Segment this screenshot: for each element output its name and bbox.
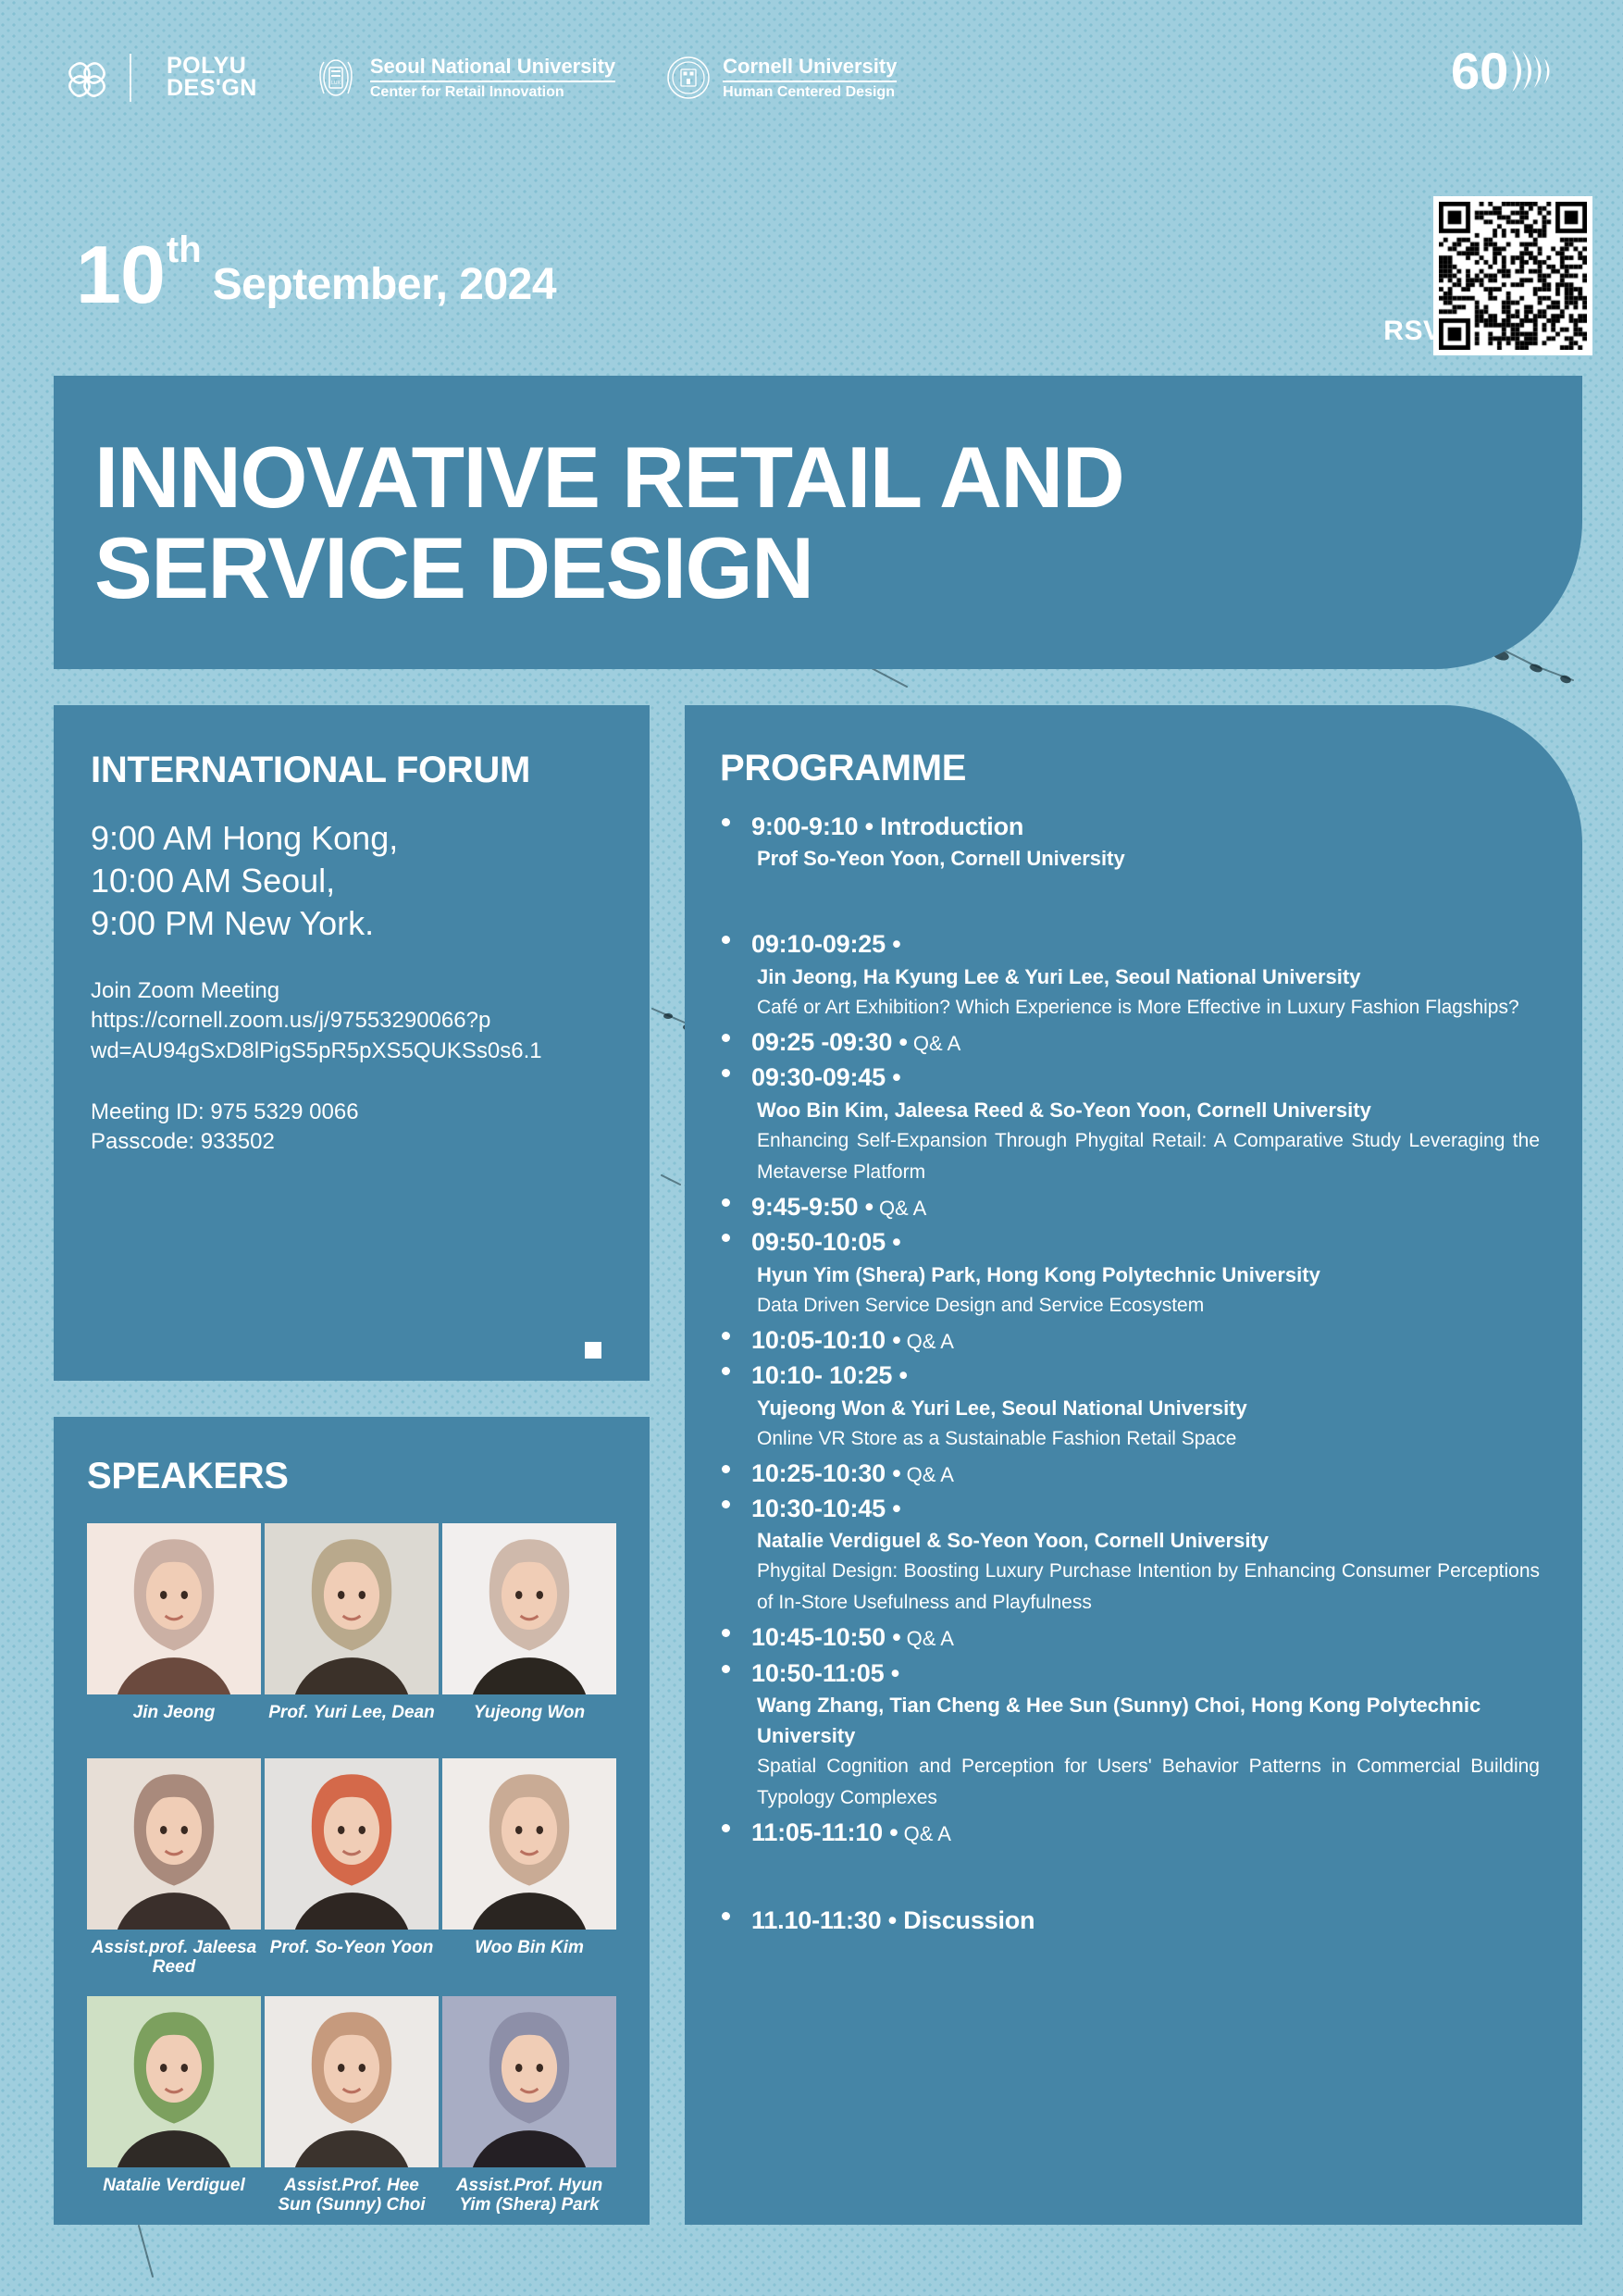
programme-item-time: 10:50-11:05 • (751, 1657, 1551, 1690)
bullet-icon (722, 1912, 730, 1920)
bullet-icon (722, 1465, 730, 1473)
bullet-icon (722, 818, 730, 826)
speaker-card: Assist.prof. Jaleesa Reed (87, 1758, 261, 1992)
bullet-icon (722, 1034, 730, 1042)
programme-time-text: 9:45-9:50 • (751, 1193, 873, 1221)
programme-item-time: 09:10-09:25 • (751, 927, 1551, 961)
programme-time-text: 10:10- 10:25 • (751, 1361, 908, 1389)
cornell-subtitle: Human Centered Design (723, 85, 897, 101)
event-date-ordinal: th (167, 231, 202, 268)
speaker-name: Prof. So-Yeon Yoon (268, 1938, 435, 1975)
forum-heading: INTERNATIONAL FORUM (91, 750, 613, 791)
speaker-card: Prof. Yuri Lee, Dean (265, 1523, 439, 1755)
anniversary-number: 60 (1451, 43, 1508, 100)
cornell-title: Cornell University (723, 56, 897, 77)
speakers-grid: Jin JeongProf. Yuri Lee, DeanYujeong Won… (87, 1523, 616, 2229)
bullet-icon (722, 936, 730, 944)
speakers-heading: SPEAKERS (87, 1456, 616, 1497)
speaker-card: Assist.Prof. Hyun Yim (Shera) Park (442, 1996, 616, 2230)
programme-qa-label: Q& A (900, 1330, 953, 1353)
programme-item-time: 10:10- 10:25 • (751, 1359, 1551, 1392)
programme-item: 09:50-10:05 •Hyun Yim (Shera) Park, Hong… (712, 1225, 1551, 1321)
forum-time-seoul: 10:00 AM Seoul, (91, 860, 613, 902)
programme-spacer (712, 875, 1551, 927)
seoul-national-university-logo: LUX Seoul National University Center for… (311, 53, 615, 103)
programme-item-speakers: Yujeong Won & Yuri Lee, Seoul National U… (751, 1393, 1551, 1423)
portrait-so-yeon-yoon (265, 1758, 439, 1930)
programme-item-talk-title: Online VR Store as a Sustainable Fashion… (751, 1423, 1551, 1455)
forum-passcode: Passcode: 933502 (91, 1127, 613, 1157)
programme-time-text: 9:00-9:10 • Introduction (751, 813, 1023, 840)
speaker-name: Assist.prof. Jaleesa Reed (91, 1938, 257, 1978)
bullet-icon (722, 1665, 730, 1673)
programme-item-time: 11.10-11:30 • Discussion (751, 1904, 1551, 1937)
programme-item: 9:00-9:10 • IntroductionProf So-Yeon Yoo… (712, 810, 1551, 874)
cornell-university-logo: Cornell University Human Centered Design (663, 53, 897, 103)
portrait-hyun-yim-park (442, 1996, 616, 2167)
portrait-natalie-verdiguel (87, 1996, 261, 2167)
programme-item-speakers: Woo Bin Kim, Jaleesa Reed & So-Yeon Yoon… (751, 1095, 1551, 1125)
bullet-icon (722, 1234, 730, 1242)
portrait-hee-sun-choi (265, 1996, 439, 2167)
forum-timezones: 9:00 AM Hong Kong, 10:00 AM Seoul, 9:00 … (91, 817, 613, 945)
international-forum-panel: INTERNATIONAL FORUM 9:00 AM Hong Kong, 1… (54, 705, 650, 1381)
programme-time-text: 10:30-10:45 • (751, 1495, 900, 1522)
speaker-card: Natalie Verdiguel (87, 1996, 261, 2230)
speaker-card: Jin Jeong (87, 1523, 261, 1755)
programme-time-text: 10:25-10:30 • (751, 1459, 900, 1487)
rsvp-qr-code[interactable] (1433, 196, 1592, 355)
forum-zoom-block: Join Zoom Meeting https://cornell.zoom.u… (91, 976, 613, 1065)
programme-list: 9:00-9:10 • IntroductionProf So-Yeon Yoo… (712, 810, 1551, 1937)
snu-wordmark: Seoul National University Center for Ret… (370, 56, 615, 101)
cornell-rule (723, 81, 897, 82)
cornell-wordmark: Cornell University Human Centered Design (723, 56, 897, 101)
programme-qa-label: Q& A (898, 1822, 950, 1845)
programme-item-talk-title: Data Driven Service Design and Service E… (751, 1290, 1551, 1322)
programme-item: 10:05-10:10 • Q& A (712, 1323, 1551, 1357)
forum-meeting-id: Meeting ID: 975 5329 0066 (91, 1098, 613, 1127)
event-date-day: 10 (76, 242, 165, 307)
bullet-icon (722, 1332, 730, 1340)
programme-item-time: 10:05-10:10 • Q& A (751, 1323, 1551, 1357)
programme-item: 11:05-11:10 • Q& A (712, 1816, 1551, 1849)
programme-qa-label: Q& A (908, 1032, 960, 1055)
programme-qa-label: Q& A (900, 1463, 953, 1486)
speaker-name: Assist.Prof. Hee Sun (Sunny) Choi (268, 2176, 435, 2215)
programme-item-time: 11:05-11:10 • Q& A (751, 1816, 1551, 1849)
programme-item: 10:25-10:30 • Q& A (712, 1457, 1551, 1490)
programme-item: 10:30-10:45 •Natalie Verdiguel & So-Yeon… (712, 1492, 1551, 1619)
forum-time-newyork: 9:00 PM New York. (91, 902, 613, 945)
programme-panel: PROGRAMME 9:00-9:10 • IntroductionProf S… (685, 705, 1582, 2225)
programme-item-time: 10:45-10:50 • Q& A (751, 1620, 1551, 1654)
forum-zoom-label: Join Zoom Meeting (91, 976, 613, 1006)
programme-item: 10:10- 10:25 •Yujeong Won & Yuri Lee, Se… (712, 1359, 1551, 1454)
programme-item: 09:10-09:25 •Jin Jeong, Ha Kyung Lee & Y… (712, 927, 1551, 1023)
forum-zoom-url-line1[interactable]: https://cornell.zoom.us/j/97553290066?p (91, 1006, 613, 1036)
programme-time-text: 10:50-11:05 • (751, 1659, 899, 1687)
programme-time-text: 11:05-11:10 • (751, 1818, 898, 1846)
poster-title-line2: SERVICE DESIGN (94, 523, 1582, 614)
programme-item: 09:25 -09:30 • Q& A (712, 1025, 1551, 1059)
programme-time-text: 09:25 -09:30 • (751, 1028, 908, 1056)
snu-crest-icon: LUX (311, 53, 361, 103)
polyu-line2: DES'GN (167, 78, 257, 100)
programme-item: 11.10-11:30 • Discussion (712, 1904, 1551, 1937)
programme-item: 10:50-11:05 •Wang Zhang, Tian Cheng & He… (712, 1657, 1551, 1814)
programme-time-text: 09:30-09:45 • (751, 1063, 900, 1091)
speaker-name: Natalie Verdiguel (91, 2176, 257, 2213)
programme-heading: PROGRAMME (720, 748, 1551, 789)
polyu-design-logo: POLYU DES'GN (67, 54, 257, 102)
programme-item-time: 10:25-10:30 • Q& A (751, 1457, 1551, 1490)
programme-item-time: 9:45-9:50 • Q& A (751, 1190, 1551, 1223)
programme-item-time: 09:25 -09:30 • Q& A (751, 1025, 1551, 1059)
bullet-icon (722, 1069, 730, 1077)
60th-anniversary-logo: 60 (1451, 43, 1555, 100)
poster-title-line1: INNOVATIVE RETAIL AND (94, 432, 1582, 523)
forum-time-hongkong: 9:00 AM Hong Kong, (91, 817, 613, 860)
cornell-seal-icon (663, 53, 713, 103)
programme-item-speakers: Prof So-Yeon Yoon, Cornell University (751, 843, 1551, 874)
programme-item-time: 9:00-9:10 • Introduction (751, 810, 1551, 843)
programme-spacer (712, 1852, 1551, 1904)
speaker-name: Yujeong Won (446, 1703, 613, 1740)
programme-item-talk-title: Spatial Cognition and Perception for Use… (751, 1751, 1551, 1814)
logo-divider (130, 54, 131, 102)
programme-item-talk-title: Phygital Design: Boosting Luxury Purchas… (751, 1556, 1551, 1619)
event-date-month-year: September, 2024 (213, 263, 556, 307)
speaker-card: Yujeong Won (442, 1523, 616, 1755)
programme-time-text: 09:50-10:05 • (751, 1228, 900, 1256)
snu-subtitle: Center for Retail Innovation (370, 85, 615, 101)
programme-time-text: 10:05-10:10 • (751, 1326, 900, 1354)
speaker-card: Woo Bin Kim (442, 1758, 616, 1992)
portrait-jaleesa-reed (87, 1758, 261, 1930)
speaker-name: Assist.Prof. Hyun Yim (Shera) Park (446, 2176, 613, 2215)
programme-item: 9:45-9:50 • Q& A (712, 1190, 1551, 1223)
speaker-card: Prof. So-Yeon Yoon (265, 1758, 439, 1992)
bullet-icon (722, 1500, 730, 1508)
programme-item-speakers: Wang Zhang, Tian Cheng & Hee Sun (Sunny)… (751, 1690, 1551, 1751)
speaker-card: Assist.Prof. Hee Sun (Sunny) Choi (265, 1996, 439, 2230)
programme-item: 09:30-09:45 •Woo Bin Kim, Jaleesa Reed &… (712, 1061, 1551, 1187)
forum-white-square-marker (585, 1342, 601, 1359)
polyu-wordmark: POLYU DES'GN (167, 56, 257, 100)
portrait-yujeong-won (442, 1523, 616, 1694)
programme-item-time: 09:30-09:45 • (751, 1061, 1551, 1094)
portrait-yuri-lee (265, 1523, 439, 1694)
portrait-woo-bin-kim (442, 1758, 616, 1930)
snu-rule (370, 81, 615, 82)
programme-item-time: 10:30-10:45 • (751, 1492, 1551, 1525)
bullet-icon (722, 1367, 730, 1375)
programme-item-time: 09:50-10:05 • (751, 1225, 1551, 1259)
programme-qa-label: Q& A (900, 1627, 953, 1650)
programme-qa-label: Q& A (873, 1197, 926, 1220)
programme-time-text: 09:10-09:25 • (751, 930, 900, 958)
programme-item-talk-title: Enhancing Self-Expansion Through Phygita… (751, 1125, 1551, 1188)
programme-item-speakers: Jin Jeong, Ha Kyung Lee & Yuri Lee, Seou… (751, 962, 1551, 992)
poster-title-banner: INNOVATIVE RETAIL AND SERVICE DESIGN (54, 376, 1582, 669)
forum-zoom-url-line2[interactable]: wd=AU94gSxD8lPigS5pR5pXS5QUKSs0s6.1 (91, 1036, 613, 1066)
programme-item: 10:45-10:50 • Q& A (712, 1620, 1551, 1654)
programme-item-speakers: Natalie Verdiguel & So-Yeon Yoon, Cornel… (751, 1525, 1551, 1556)
programme-item-speakers: Hyun Yim (Shera) Park, Hong Kong Polytec… (751, 1260, 1551, 1290)
programme-item-talk-title: Café or Art Exhibition? Which Experience… (751, 992, 1551, 1024)
svg-text:LUX: LUX (331, 81, 341, 86)
speaker-name: Prof. Yuri Lee, Dean (268, 1703, 435, 1740)
speaker-name: Jin Jeong (91, 1703, 257, 1740)
partner-logo-bar: POLYU DES'GN LUX Seoul National Universi… (67, 48, 897, 107)
programme-time-text: 10:45-10:50 • (751, 1623, 900, 1651)
polyu-knot-icon (67, 56, 109, 99)
speaker-name: Woo Bin Kim (446, 1938, 613, 1975)
bullet-icon (722, 1198, 730, 1207)
qr-code-image (1439, 202, 1587, 350)
bullet-icon (722, 1629, 730, 1637)
portrait-jin-jeong (87, 1523, 261, 1694)
programme-time-text: 11.10-11:30 • Discussion (751, 1906, 1035, 1934)
forum-meeting-block: Meeting ID: 975 5329 0066 Passcode: 9335… (91, 1098, 613, 1157)
speakers-panel: SPEAKERS Jin JeongProf. Yuri Lee, DeanYu… (54, 1417, 650, 2225)
snu-title: Seoul National University (370, 56, 615, 77)
event-date: 10 th September, 2024 (76, 242, 556, 307)
bullet-icon (722, 1824, 730, 1832)
